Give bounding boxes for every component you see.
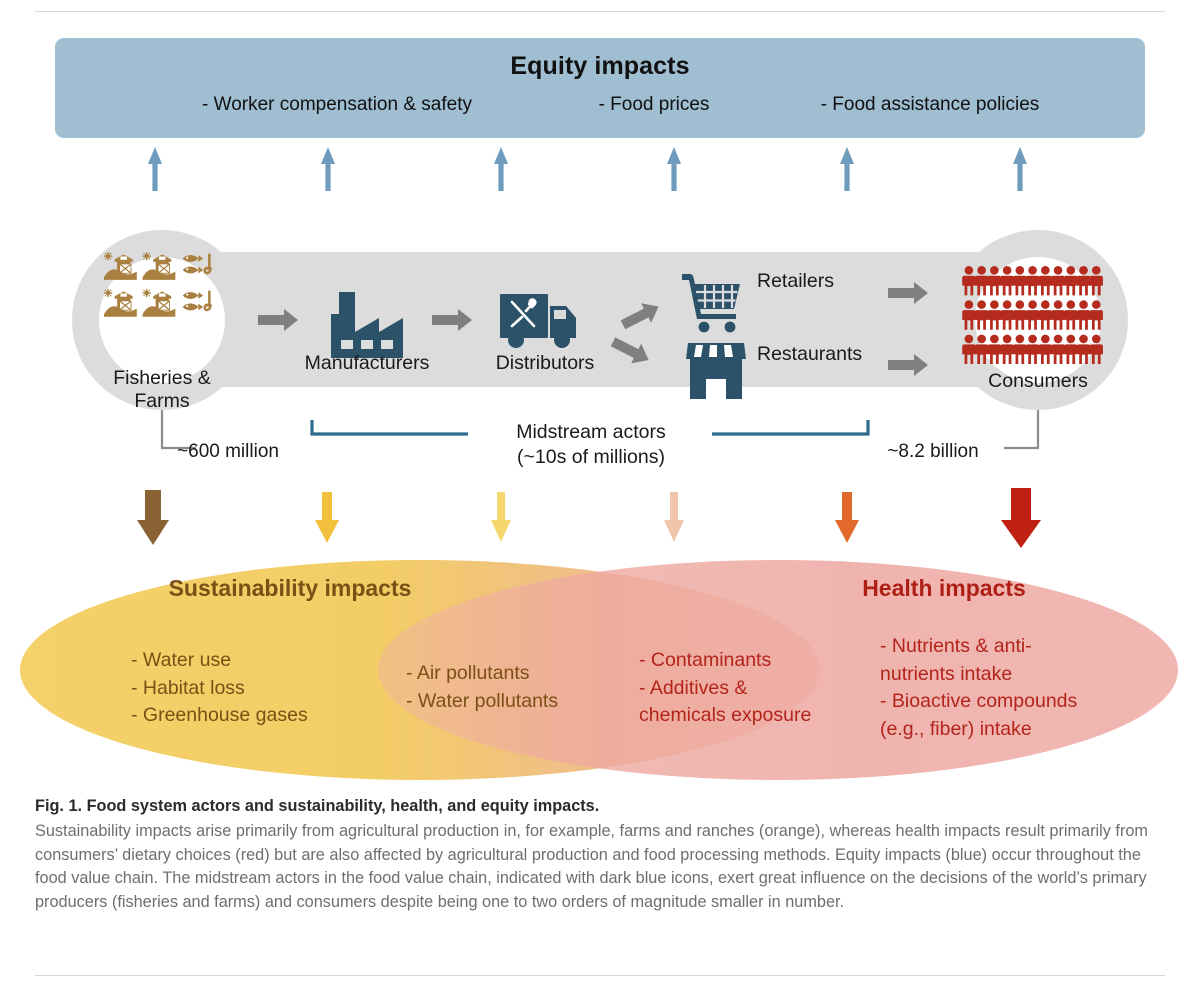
node-label-retailers: Retailers — [757, 270, 834, 293]
health-list-right: - Nutrients & anti- nutrients intake - B… — [880, 633, 1077, 744]
down-arrow-1 — [137, 490, 169, 545]
sustainability-impacts-title: Sustainability impacts — [169, 575, 412, 602]
health-impacts-title: Health impacts — [862, 575, 1026, 602]
health-list-left: - Contaminants - Additives & chemicals e… — [639, 647, 811, 730]
midstream-bracket-left — [312, 420, 468, 434]
equity-impacts-title: Equity impacts — [510, 52, 689, 82]
caption-fig-number: Fig. 1. — [35, 797, 82, 815]
node-label-restaurants: Restaurants — [757, 343, 862, 366]
node-label-distributors: Distributors — [496, 352, 595, 375]
storefront-icon — [686, 343, 746, 399]
leader-line-consumers — [1004, 410, 1038, 448]
down-arrow-3 — [491, 492, 511, 542]
figure-page: Equity impacts - Worker compensation & s… — [0, 0, 1200, 990]
midstream-line-2: (~10s of millions) — [517, 446, 665, 468]
down-arrow-5 — [835, 492, 859, 543]
count-consumers: ~8.2 billion — [878, 440, 988, 463]
equity-item-food-assistance: - Food assistance policies — [821, 94, 1040, 116]
sustainability-list-left: - Water use - Habitat loss - Greenhouse … — [131, 647, 308, 730]
figure-caption: Fig. 1. Food system actors and sustainab… — [35, 795, 1171, 915]
caption-title: Food system actors and sustainability, h… — [87, 797, 600, 815]
node-label-consumers: Consumers — [988, 370, 1088, 393]
people-group-icon — [962, 266, 1103, 364]
sustainability-list-right: - Air pollutants - Water pollutants — [406, 660, 558, 715]
midstream-bracket-right — [712, 420, 868, 434]
midstream-actors-label: Midstream actors (~10s of millions) — [471, 420, 711, 471]
equity-item-food-prices: - Food prices — [599, 94, 710, 116]
bottom-divider — [35, 975, 1165, 976]
equity-item-worker-compensation: - Worker compensation & safety — [202, 94, 472, 116]
equity-up-arrows — [148, 147, 1027, 191]
midstream-line-1: Midstream actors — [516, 421, 666, 443]
down-arrow-2 — [315, 492, 339, 543]
top-divider — [35, 11, 1165, 12]
caption-body: Sustainability impacts arise primarily f… — [35, 820, 1171, 915]
down-arrow-4 — [664, 492, 684, 542]
node-label-manufacturers: Manufacturers — [305, 352, 430, 375]
impact-down-arrows — [137, 488, 1041, 548]
count-fisheries-farms: ~600 million — [173, 440, 283, 463]
down-arrow-6 — [1001, 488, 1041, 548]
node-label-fisheries-farms: Fisheries & Farms — [87, 367, 237, 414]
